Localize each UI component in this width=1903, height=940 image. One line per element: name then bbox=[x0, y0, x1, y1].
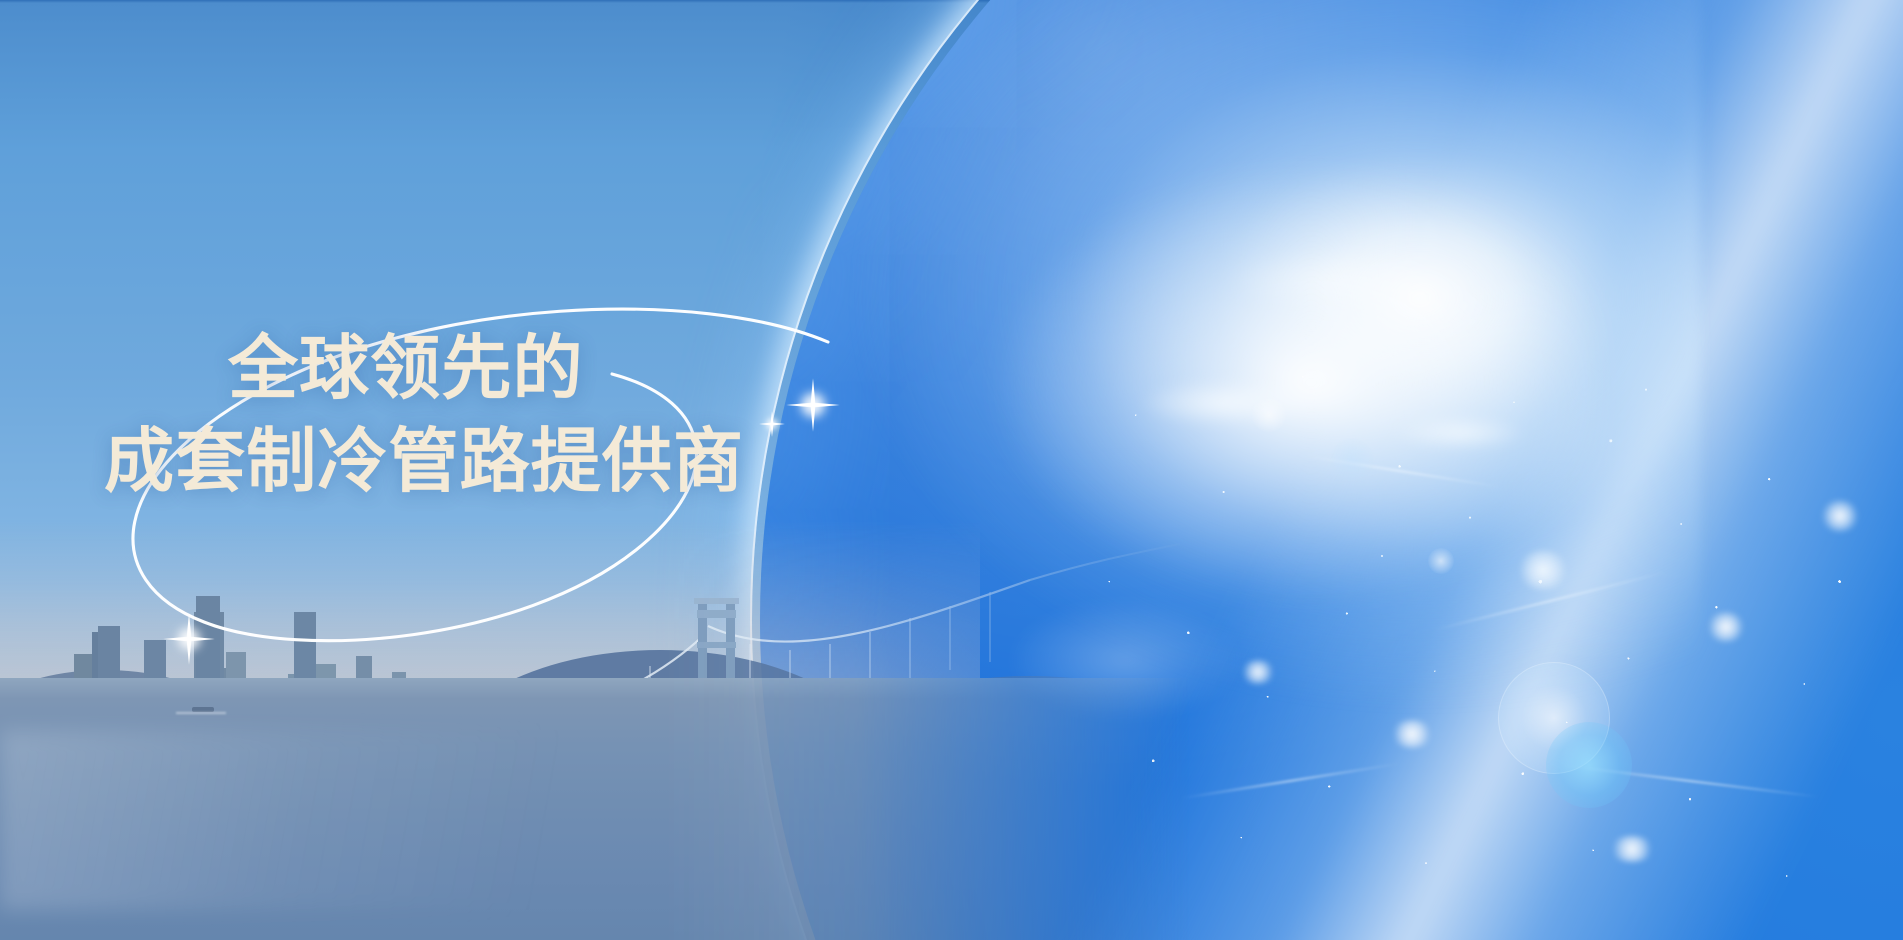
bridge-tower-crossbeam bbox=[697, 610, 736, 618]
page-title: 全球领先的 成套制冷管路提供商 bbox=[104, 327, 864, 502]
headline-line-1: 全球领先的 bbox=[228, 327, 864, 410]
lens-flare-halo bbox=[1330, 438, 1374, 482]
headline-line-2: 成套制冷管路提供商 bbox=[104, 420, 864, 503]
city-light-cluster bbox=[1706, 612, 1746, 642]
lens-flare-small bbox=[1252, 398, 1286, 432]
hero-banner: 全球领先的 成套制冷管路提供商 bbox=[0, 0, 1903, 940]
boat-wake bbox=[176, 712, 226, 714]
city-light-cluster bbox=[1608, 836, 1656, 862]
city-light-cluster bbox=[1820, 500, 1860, 532]
lens-flare-small bbox=[1428, 548, 1454, 574]
bridge-tower-crossbeam bbox=[697, 642, 736, 648]
lens-flare-cyan bbox=[1546, 722, 1632, 808]
landscape-scene bbox=[0, 510, 1190, 940]
bridge-tower-cap bbox=[694, 598, 739, 604]
water-sheen bbox=[0, 730, 760, 910]
